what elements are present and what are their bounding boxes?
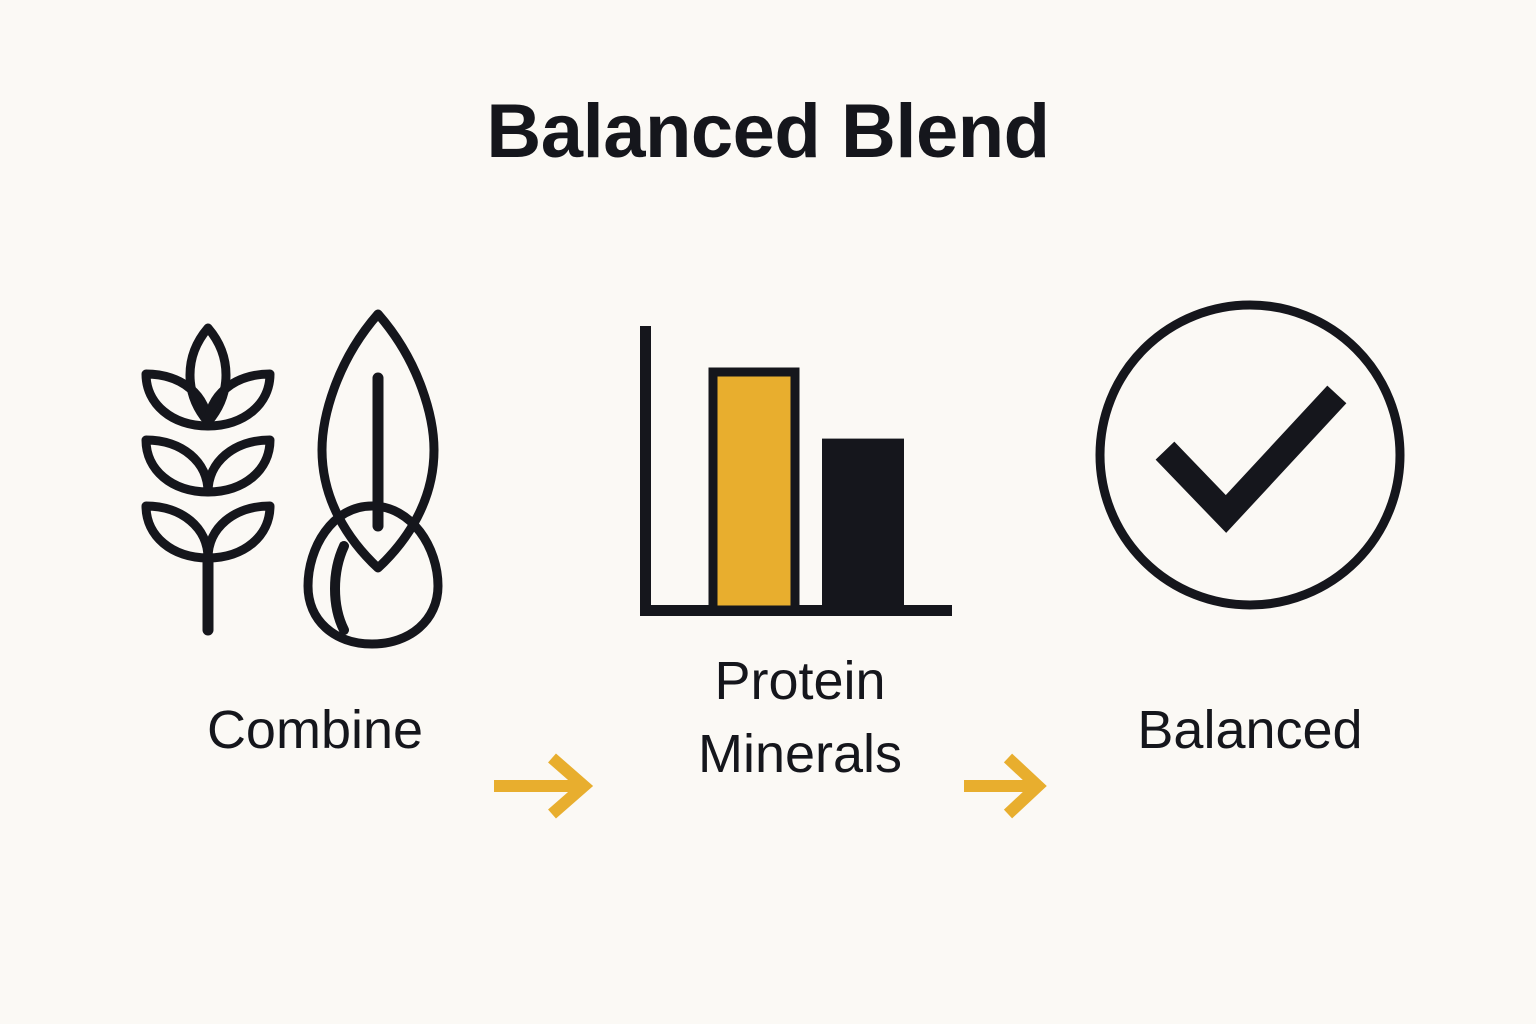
stage-nutrients: [600, 300, 990, 640]
stage-balanced: [1070, 300, 1430, 640]
bar-minerals-rect: [822, 439, 904, 610]
stage-nutrients-label-line-2: Minerals: [600, 718, 1000, 791]
page-title: Balanced Blend: [0, 92, 1536, 172]
bar-protein: [713, 372, 795, 610]
bar-minerals: [822, 439, 904, 610]
wheat-and-grain-icon: [120, 300, 510, 630]
stage-nutrients-label-line-1: Protein: [600, 645, 1000, 718]
process-flow: [0, 300, 1536, 660]
bar-chart-icon: [600, 300, 990, 630]
stage-balanced-label: Balanced: [1050, 694, 1450, 767]
wheat-stalk-shape: [146, 328, 270, 630]
check-circle-outline: [1100, 305, 1400, 605]
chart-y-axis: [640, 326, 651, 616]
infographic-canvas: Balanced Blend: [0, 0, 1536, 1024]
stage-combine: [120, 300, 510, 640]
check-mark-shape: [1174, 404, 1328, 514]
check-circle-icon: [1070, 300, 1430, 630]
stage-nutrients-label: Protein Minerals: [600, 645, 1000, 791]
stage-combine-label: Combine: [110, 694, 520, 767]
bar-protein-rect: [713, 372, 795, 610]
